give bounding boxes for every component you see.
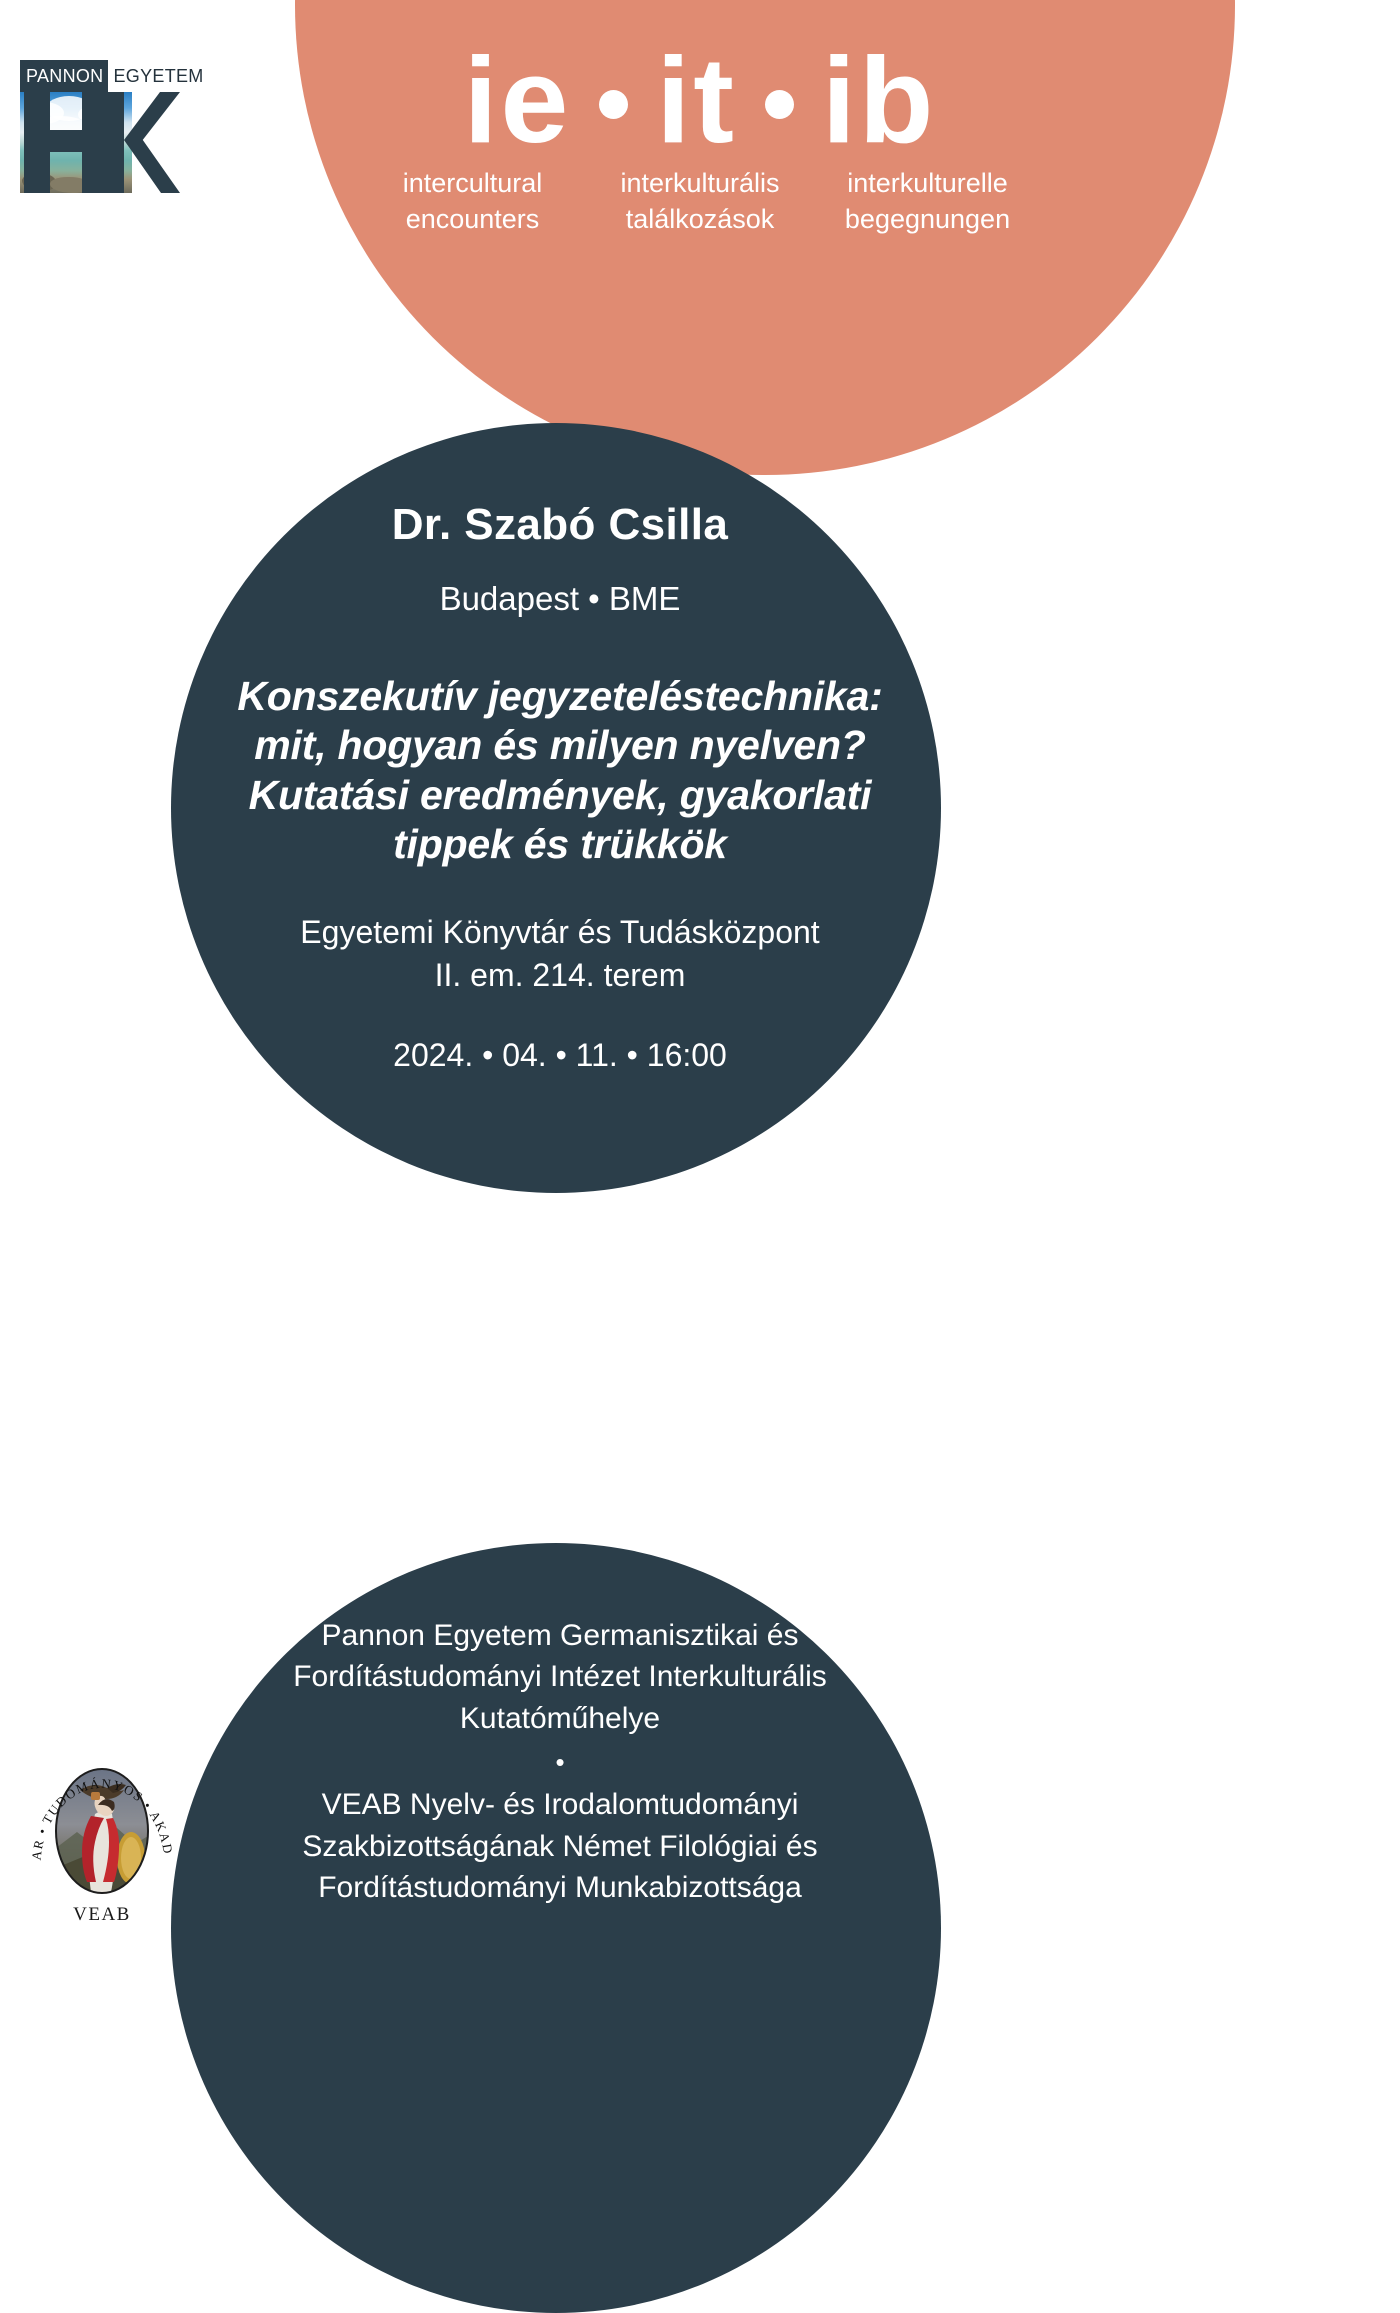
organizer-block-1: Pannon Egyetem Germanisztikai és Fordítá…	[180, 1615, 940, 1739]
talk-title-line4: tippek és trükkök	[150, 820, 970, 869]
mta-veab-seal: MAGYAR • TUDOMÁNYOS • AKADÉMIA • VEAB	[25, 1728, 180, 1943]
speaker-affiliation: Budapest • BME	[150, 579, 970, 619]
organizer1-line1: Pannon Egyetem Germanisztikai és	[180, 1615, 940, 1656]
subtitle-english-line1: intercultural	[358, 166, 588, 202]
subtitle-german-line2: begegnungen	[813, 202, 1043, 238]
talk-title: Konszekutív jegyzeteléstechnika: mit, ho…	[150, 672, 970, 869]
brand-part-ie: ie	[462, 38, 574, 162]
venue: Egyetemi Könyvtár és Tudásközpont II. em…	[150, 911, 970, 997]
subtitle-english: intercultural encounters	[358, 166, 588, 237]
subtitle-hungarian-line2: találkozások	[588, 202, 813, 238]
subtitle-hungarian-line1: interkulturális	[588, 166, 813, 202]
organizer2-line3: Fordítástudományi Munkabizottsága	[180, 1867, 940, 1908]
brand-part-it: it	[654, 38, 739, 162]
logo-word-egyetem: EGYETEM	[108, 60, 206, 92]
bullet-dot-icon	[599, 90, 628, 119]
organizer2-line1: VEAB Nyelv- és Irodalomtudományi	[180, 1784, 940, 1825]
event-datetime: 2024. • 04. • 11. • 16:00	[150, 1035, 970, 1077]
logo-monogram-hk	[20, 92, 180, 193]
subtitle-german-line1: interkulturelle	[813, 166, 1043, 202]
subtitle-hungarian: interkulturális találkozások	[588, 166, 813, 237]
seal-caption-veab: VEAB	[73, 1904, 131, 1925]
organizers: Pannon Egyetem Germanisztikai és Fordítá…	[180, 1615, 940, 1908]
talk-title-line2: mit, hogyan és milyen nyelven?	[150, 721, 970, 770]
subtitle-german: interkulturelle begegnungen	[813, 166, 1043, 237]
brand-subtitles: intercultural encounters interkulturális…	[358, 166, 1043, 237]
organizer1-line3: Kutatóműhelye	[180, 1698, 940, 1739]
venue-line2: II. em. 214. terem	[150, 954, 970, 997]
logo-word-pannon: PANNON	[20, 60, 108, 92]
organizer2-line2: Szakbizottságának Német Filológiai és	[180, 1826, 940, 1867]
logo-wordmark: PANNON EGYETEM	[20, 60, 180, 92]
header: ie it ib intercultural encounters interk…	[0, 0, 1400, 330]
brand-wordmark: ie it ib	[462, 38, 939, 162]
talk-title-line1: Konszekutív jegyzeteléstechnika:	[150, 672, 970, 721]
organizer-separator: •	[180, 1739, 940, 1784]
brand-part-ib: ib	[820, 38, 938, 162]
talk-title-line3: Kutatási eredmények, gyakorlati	[150, 771, 970, 820]
organizer-block-2: VEAB Nyelv- és Irodalomtudományi Szakbiz…	[180, 1784, 940, 1908]
subtitle-english-line2: encounters	[358, 202, 588, 238]
pannon-egyetem-logo: PANNON EGYETEM	[20, 60, 180, 193]
speaker-name: Dr. Szabó Csilla	[150, 500, 970, 551]
bullet-dot-icon	[765, 90, 794, 119]
organizer1-line2: Fordítástudományi Intézet Interkulturáli…	[180, 1656, 940, 1697]
venue-line1: Egyetemi Könyvtár és Tudásközpont	[150, 911, 970, 954]
main-content: Dr. Szabó Csilla Budapest • BME Konszeku…	[150, 500, 970, 1077]
